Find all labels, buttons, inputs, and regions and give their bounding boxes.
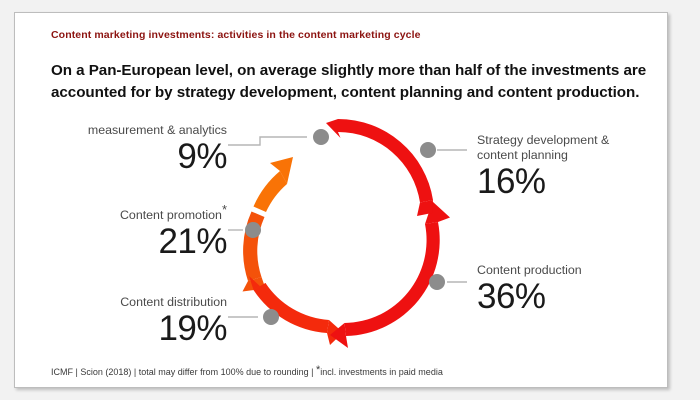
- callout-caption: Content promotion*: [37, 208, 227, 223]
- callout-caption-line2: content planning: [477, 148, 667, 163]
- callout-value: 9%: [37, 139, 227, 175]
- footnote-marker-icon: *: [222, 202, 227, 217]
- footer-note: incl. investments in paid media: [320, 367, 443, 377]
- slice-measurement-analytics[interactable]: [254, 157, 294, 212]
- callout-caption: Content production: [477, 263, 667, 278]
- slice-content-distribution[interactable]: [249, 276, 343, 345]
- callout-value: 19%: [37, 311, 227, 347]
- slice-content-production[interactable]: [330, 202, 450, 349]
- kicker-title: Content marketing investments: activitie…: [51, 29, 421, 41]
- callout-caption: measurement & analytics: [37, 123, 227, 138]
- callout-caption-text: Content promotion: [120, 208, 222, 222]
- callout-content-production[interactable]: Content production 36%: [477, 263, 667, 315]
- callout-caption: Content distribution: [37, 295, 227, 310]
- footer-source: ICMF | Scion (2018) | total may differ f…: [51, 364, 443, 377]
- callout-measurement-analytics[interactable]: measurement & analytics 9%: [37, 123, 227, 175]
- slice-content-promotion[interactable]: [243, 212, 266, 292]
- headline: On a Pan-European level, on average slig…: [51, 60, 651, 104]
- chart-card: Content marketing investments: activitie…: [14, 12, 668, 388]
- callout-content-distribution[interactable]: Content distribution 19%: [37, 295, 227, 347]
- callout-value: 16%: [477, 164, 667, 200]
- callout-content-promotion[interactable]: Content promotion* 21%: [37, 208, 227, 260]
- callout-caption-line1: Strategy development &: [477, 133, 667, 148]
- callout-strategy-development[interactable]: Strategy development & content planning …: [477, 133, 667, 200]
- donut-chart: measurement & analytics 9% Content promo…: [15, 105, 668, 377]
- callout-value: 21%: [37, 224, 227, 260]
- donut-ring: [218, 105, 468, 367]
- callout-value: 36%: [477, 279, 667, 315]
- slice-strategy-development[interactable]: [326, 119, 433, 216]
- footer-text: ICMF | Scion (2018) | total may differ f…: [51, 367, 316, 377]
